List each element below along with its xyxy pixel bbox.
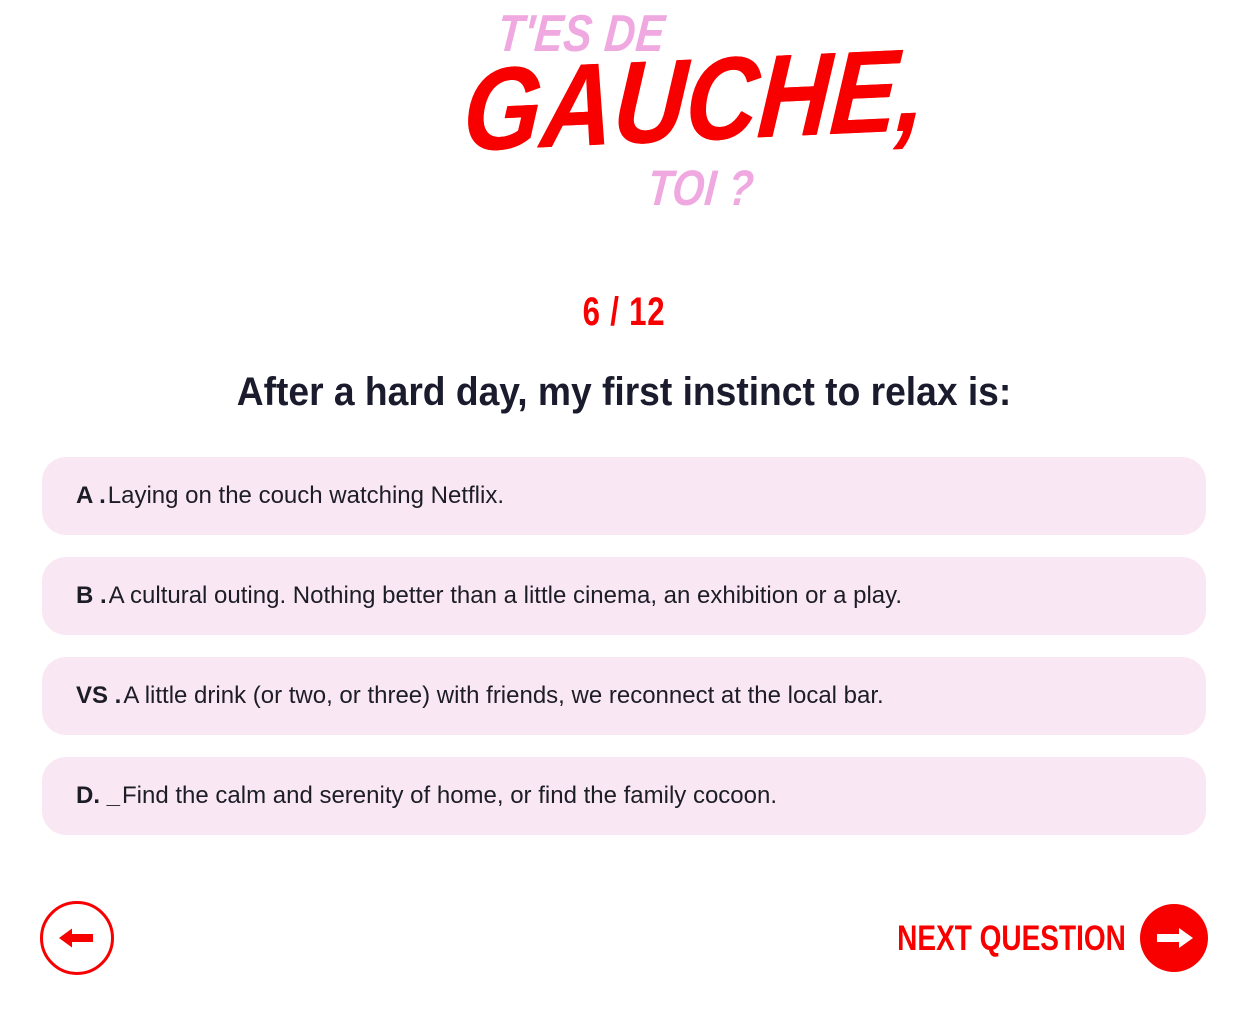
next-question-button[interactable]: NEXT QUESTION xyxy=(840,904,1208,972)
brand-logo: T'ES DE GAUCHE, TOI ? xyxy=(0,0,1248,240)
answer-key-d: D. _ xyxy=(76,782,120,810)
arrow-right-icon xyxy=(1155,926,1193,950)
arrow-left-icon xyxy=(59,927,95,949)
answer-text-c: A little drink (or two, or three) with f… xyxy=(123,682,883,710)
question-title: After a hard day, my first instinct to r… xyxy=(44,370,1205,415)
next-question-label: NEXT QUESTION xyxy=(897,921,1126,956)
answer-key-a: A . xyxy=(76,482,106,510)
answer-text-b: A cultural outing. Nothing better than a… xyxy=(109,582,902,610)
previous-question-button[interactable] xyxy=(40,901,114,975)
question-counter: 6 / 12 xyxy=(137,292,1110,332)
next-question-circle[interactable] xyxy=(1140,904,1208,972)
answer-key-b: B . xyxy=(76,582,107,610)
answer-option-d[interactable]: D. _ Find the calm and serenity of home,… xyxy=(42,757,1206,835)
answer-text-d: Find the calm and serenity of home, or f… xyxy=(122,782,777,810)
answer-text-a: Laying on the couch watching Netflix. xyxy=(108,482,504,510)
logo-line-gauche: GAUCHE, xyxy=(460,31,930,170)
answer-key-c: VS . xyxy=(76,682,121,710)
answer-option-c[interactable]: VS . A little drink (or two, or three) w… xyxy=(42,657,1206,735)
logo-line-toi: TOI ? xyxy=(646,163,756,213)
answer-option-a[interactable]: A . Laying on the couch watching Netflix… xyxy=(42,457,1206,535)
quiz-navigation: NEXT QUESTION xyxy=(0,888,1248,988)
answer-options-list: A . Laying on the couch watching Netflix… xyxy=(42,457,1206,835)
answer-option-b[interactable]: B . A cultural outing. Nothing better th… xyxy=(42,557,1206,635)
